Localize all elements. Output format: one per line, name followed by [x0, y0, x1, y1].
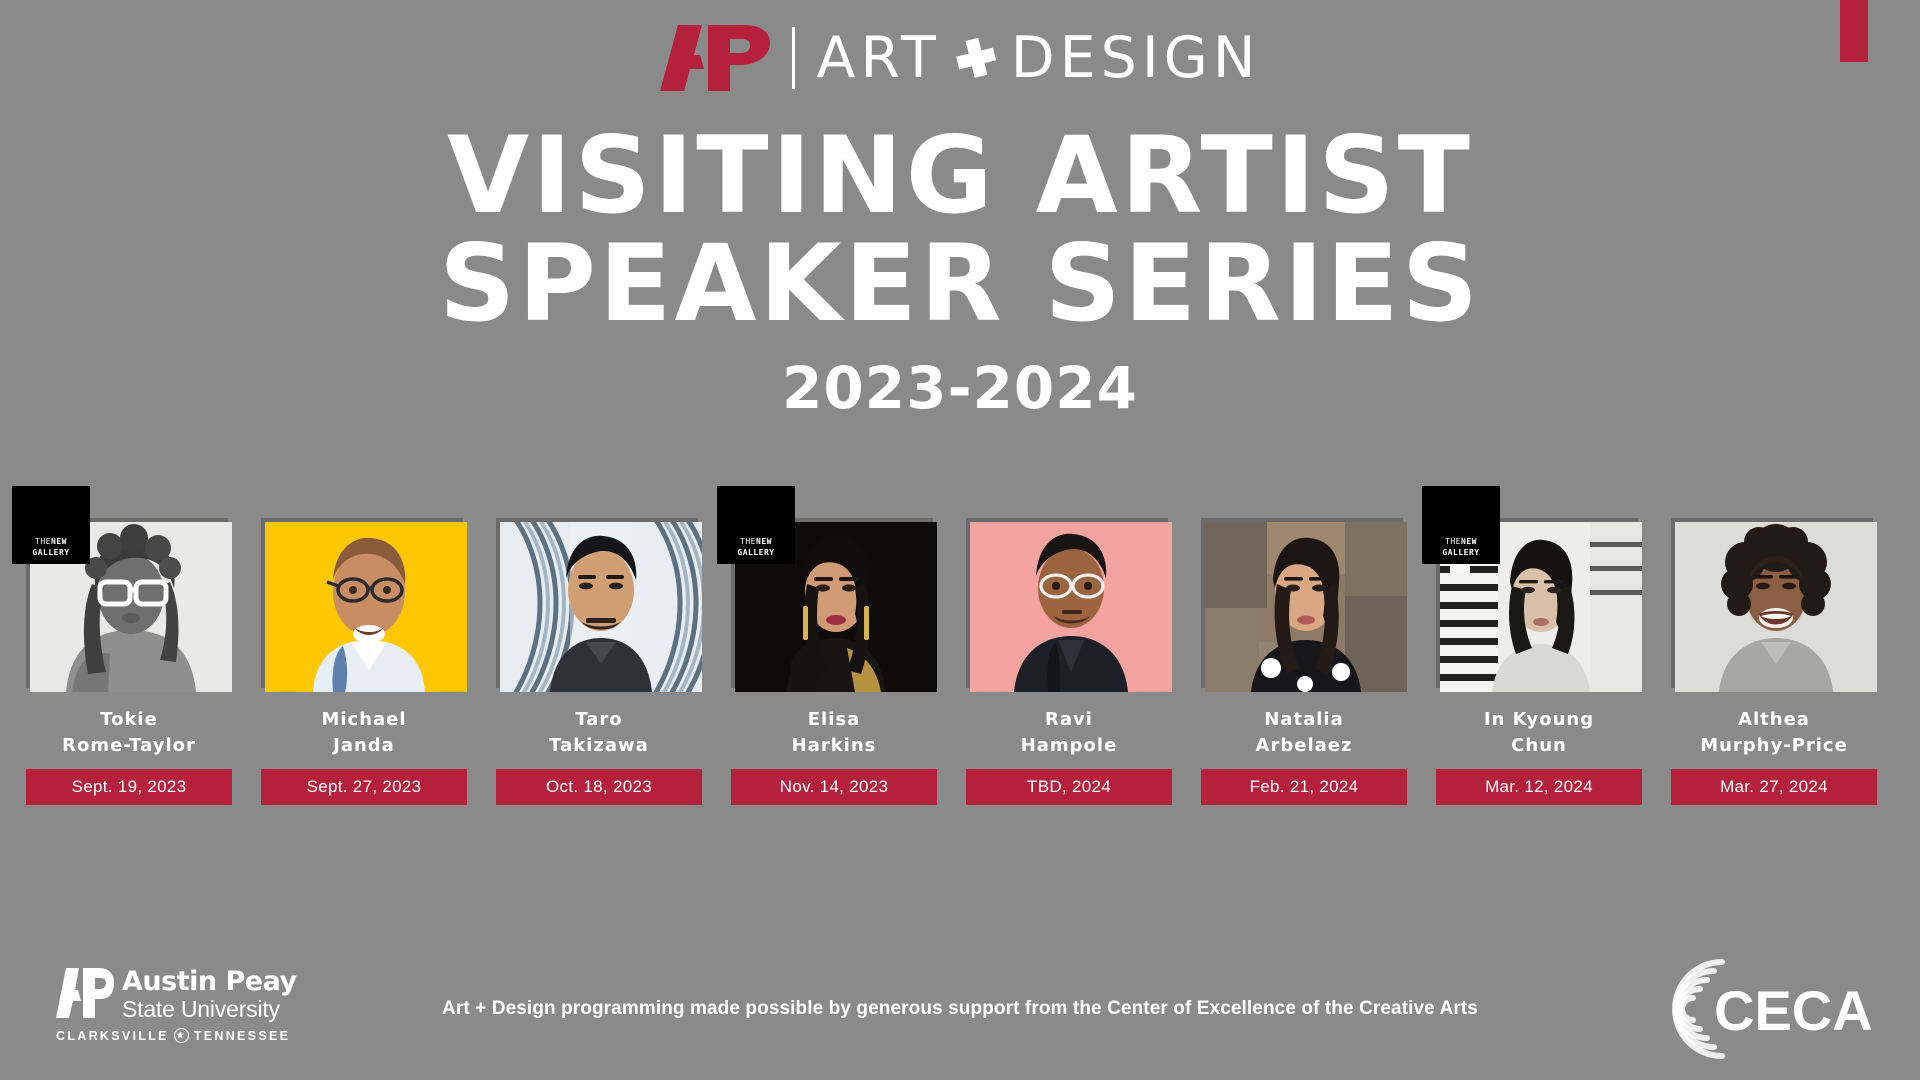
brand-wordmark: ART DESIGN	[817, 30, 1261, 87]
speaker-name: Tokie Rome-Taylor	[26, 707, 232, 759]
speaker-name: Elisa Harkins	[731, 707, 937, 759]
speaker-portrait-wrap	[1201, 500, 1407, 692]
speaker-card[interactable]: Michael Janda Sept. 27, 2023	[261, 500, 467, 805]
apsu-state: TENNESSEE	[194, 1029, 290, 1043]
speaker-date-badge[interactable]: Sept. 27, 2023	[261, 769, 467, 805]
speaker-photo	[265, 522, 467, 692]
speaker-date-badge[interactable]: Nov. 14, 2023	[731, 769, 937, 805]
ap-monogram-icon	[660, 25, 772, 91]
the-new-gallery-badge: THENEW GALLERY	[12, 486, 90, 564]
brand-lockup: ART DESIGN	[0, 22, 1920, 94]
speaker-card[interactable]: Althea Murphy-Price Mar. 27, 2024	[1671, 500, 1877, 805]
speaker-portrait-wrap	[261, 500, 467, 692]
speaker-date-badge[interactable]: Mar. 27, 2024	[1671, 769, 1877, 805]
tri-star-icon: ★	[174, 1028, 189, 1043]
gallery-badge-line-2: GALLERY	[1442, 547, 1479, 558]
speaker-portrait-wrap: THENEW GALLERY	[26, 500, 232, 692]
brand-word-design: DESIGN	[1011, 30, 1261, 87]
the-new-gallery-badge: THENEW GALLERY	[1422, 486, 1500, 564]
speaker-name: Natalia Arbelaez	[1201, 707, 1407, 759]
the-new-gallery-badge: THENEW GALLERY	[717, 486, 795, 564]
ceca-logo: CECA	[1652, 954, 1872, 1064]
apsu-name-line-1: Austin Peay	[122, 968, 297, 995]
speaker-name: In Kyoung Chun	[1436, 707, 1642, 759]
speaker-card[interactable]: Ravi Hampole TBD, 2024	[966, 500, 1172, 805]
page-title-year: 2023-2024	[0, 354, 1920, 422]
gallery-badge-line-2: GALLERY	[737, 547, 774, 558]
speaker-portrait-wrap: THENEW GALLERY	[731, 500, 937, 692]
title-block: VISITING ARTIST SPEAKER SERIES 2023-2024	[0, 122, 1920, 422]
speaker-name: Ravi Hampole	[966, 707, 1172, 759]
page-title-line-1: VISITING ARTIST	[0, 122, 1920, 230]
gallery-badge-line-1: THENEW	[35, 536, 67, 547]
speaker-portrait-wrap	[966, 500, 1172, 692]
speaker-portrait-wrap: THENEW GALLERY	[1436, 500, 1642, 692]
speaker-photo	[500, 522, 702, 692]
speaker-portrait-wrap	[496, 500, 702, 692]
speaker-date-badge[interactable]: Oct. 18, 2023	[496, 769, 702, 805]
footer: Austin Peay State University CLARKSVILLE…	[0, 940, 1920, 1080]
ceca-wordmark: CECA	[1714, 979, 1872, 1042]
speaker-name: Taro Takizawa	[496, 707, 702, 759]
apsu-city: CLARKSVILLE	[56, 1029, 169, 1043]
speaker-date-badge[interactable]: Mar. 12, 2024	[1436, 769, 1642, 805]
speaker-date-badge[interactable]: TBD, 2024	[966, 769, 1172, 805]
support-statement: Art + Design programming made possible b…	[0, 998, 1920, 1020]
speaker-card[interactable]: THENEW GALLERY To	[26, 500, 232, 805]
speaker-card[interactable]: THENEW GALLERY Elis	[731, 500, 937, 805]
plus-icon	[953, 35, 999, 81]
speaker-date-badge[interactable]: Sept. 19, 2023	[26, 769, 232, 805]
brand-divider	[792, 27, 795, 89]
speaker-name: Michael Janda	[261, 707, 467, 759]
speaker-name: Althea Murphy-Price	[1671, 707, 1877, 759]
speaker-card[interactable]: Natalia Arbelaez Feb. 21, 2024	[1201, 500, 1407, 805]
gallery-badge-line-1: THENEW	[740, 536, 772, 547]
speaker-card[interactable]: THENEW GALLERY	[1436, 500, 1642, 805]
speaker-list: THENEW GALLERY To	[26, 500, 1906, 805]
gallery-badge-line-1: THENEW	[1445, 536, 1477, 547]
speaker-photo	[970, 522, 1172, 692]
speaker-photo	[1675, 522, 1877, 692]
gallery-badge-line-2: GALLERY	[32, 547, 69, 558]
speaker-portrait-wrap	[1671, 500, 1877, 692]
speaker-photo	[1205, 522, 1407, 692]
brand-word-art: ART	[817, 30, 941, 87]
speaker-date-badge[interactable]: Feb. 21, 2024	[1201, 769, 1407, 805]
page-title-line-2: SPEAKER SERIES	[0, 230, 1920, 338]
speaker-card[interactable]: Taro Takizawa Oct. 18, 2023	[496, 500, 702, 805]
apsu-location-line: CLARKSVILLE ★ TENNESSEE	[56, 1028, 316, 1043]
